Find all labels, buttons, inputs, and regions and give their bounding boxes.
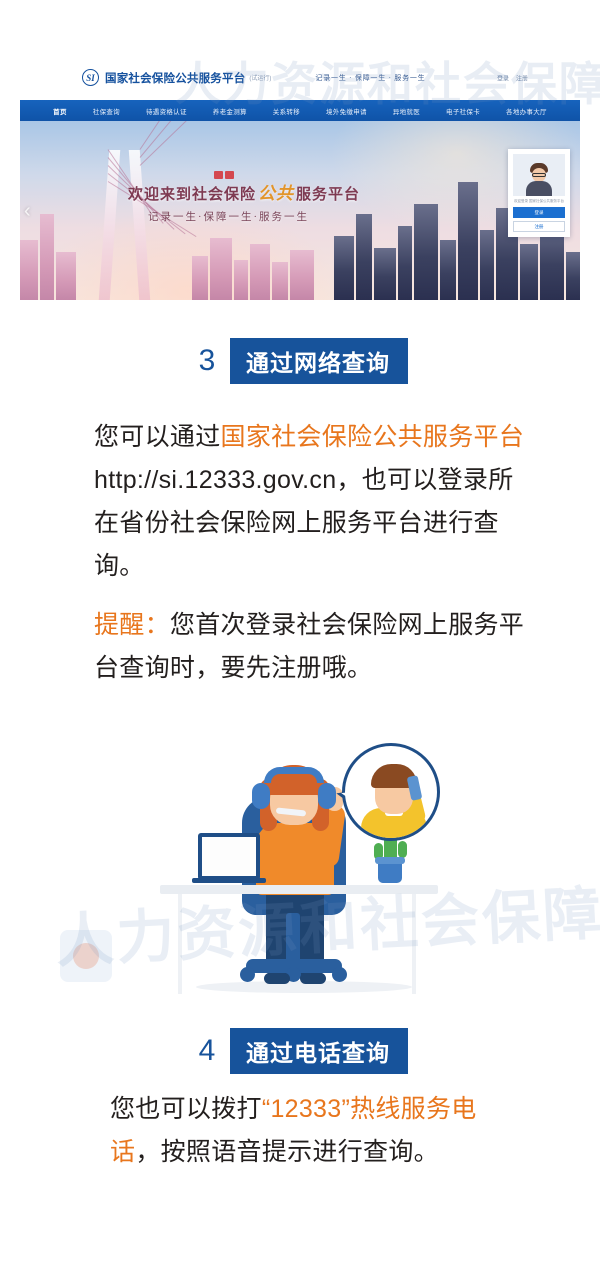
paragraph-network-query: 您可以通过国家社会保险公共服务平台http://si.12333.gov.cn，…	[94, 416, 526, 588]
watermark-logo-icon	[60, 930, 112, 982]
header-auth-links: 登录 注册	[497, 73, 528, 82]
p3-seg1: 您也可以拨打	[110, 1095, 262, 1123]
header-login-link[interactable]: 登录	[497, 73, 509, 82]
hero-headline-before: 欢迎来到社会保险	[128, 187, 256, 203]
nav-item-transfer[interactable]: 关系转移	[273, 106, 300, 116]
page-root: SI 国家社会保险公共服务平台 (试运行) 记录一生 · 保障一生 · 服务一生…	[0, 0, 600, 1266]
nav-item-remote-medical[interactable]: 异地就医	[393, 106, 420, 116]
site-title: 国家社会保险公共服务平台	[105, 70, 245, 86]
nav-item-local-halls[interactable]: 各地办事大厅	[506, 106, 547, 116]
login-button[interactable]: 登录	[513, 207, 565, 218]
website-screenshot: SI 国家社会保险公共服务平台 (试运行) 记录一生 · 保障一生 · 服务一生…	[20, 55, 580, 300]
laptop-icon	[198, 833, 260, 880]
hero-banner: 欢迎来到社会保险公共服务平台 记录一生·保障一生·服务一生 欢迎登录 国家社保公…	[20, 121, 580, 300]
login-card: 欢迎登录 国家社保公共服务平台 登录 注册	[508, 149, 570, 237]
reminder-label: 提醒：	[94, 611, 170, 639]
header-slogan: 记录一生 · 保障一生 · 服务一生	[315, 73, 425, 83]
header-register-link[interactable]: 注册	[516, 73, 528, 82]
section-heading-3: 3 通过网络查询	[184, 338, 408, 384]
avatar	[513, 154, 565, 196]
p1-url: http://si.12333.gov.cn	[94, 466, 336, 494]
paragraph-phone-query: 您也可以拨打“12333”热线服务电话，按照语音提示进行查询。	[110, 1088, 526, 1174]
hero-headline-after: 服务平台	[296, 187, 360, 203]
headset-icon	[252, 783, 270, 809]
p3-seg3: ，按照语音提示进行查询。	[135, 1138, 439, 1166]
section-number-4: 4	[184, 1028, 230, 1074]
hero-headline-highlight: 公共	[256, 184, 296, 203]
nav-item-home[interactable]: 首页	[53, 106, 67, 116]
section-number-3: 3	[184, 338, 230, 384]
carousel-prev-icon[interactable]: ‹	[24, 201, 31, 221]
site-title-suffix: (试运行)	[249, 73, 271, 82]
nav-item-ecard[interactable]: 电子社保卡	[446, 106, 480, 116]
site-nav: 首页 社保查询 待遇资格认证 养老金测算 关系转移 境外免缴申请 异地就医 电子…	[20, 100, 580, 121]
hero-decoration-dots	[214, 171, 234, 179]
nav-item-qualification[interactable]: 待遇资格认证	[146, 106, 187, 116]
section-title-4: 通过电话查询	[230, 1034, 408, 1068]
nav-item-pension-calc[interactable]: 养老金测算	[213, 106, 247, 116]
hero-subline: 记录一生·保障一生·服务一生	[148, 209, 309, 224]
nav-item-shebao-query[interactable]: 社保查询	[93, 106, 120, 116]
nav-item-overseas[interactable]: 境外免缴申请	[326, 106, 367, 116]
call-center-illustration	[160, 735, 450, 1020]
login-card-hint: 欢迎登录 国家社保公共服务平台	[513, 199, 565, 204]
register-button[interactable]: 注册	[513, 221, 565, 232]
p1-platform-name: 国家社会保险公共服务平台	[221, 423, 525, 451]
section-title-3: 通过网络查询	[230, 344, 408, 378]
site-header: SI 国家社会保险公共服务平台 (试运行) 记录一生 · 保障一生 · 服务一生…	[20, 55, 580, 100]
paragraph-reminder: 提醒：您首次登录社会保险网上服务平台查询时，要先注册哦。	[94, 604, 526, 690]
hero-headline: 欢迎来到社会保险公共服务平台	[128, 179, 360, 204]
site-brand: SI 国家社会保险公共服务平台 (试运行)	[82, 69, 271, 86]
si-logo-icon: SI	[82, 69, 99, 86]
section-heading-4: 4 通过电话查询	[184, 1028, 408, 1074]
p1-seg1: 您可以通过	[94, 423, 221, 451]
